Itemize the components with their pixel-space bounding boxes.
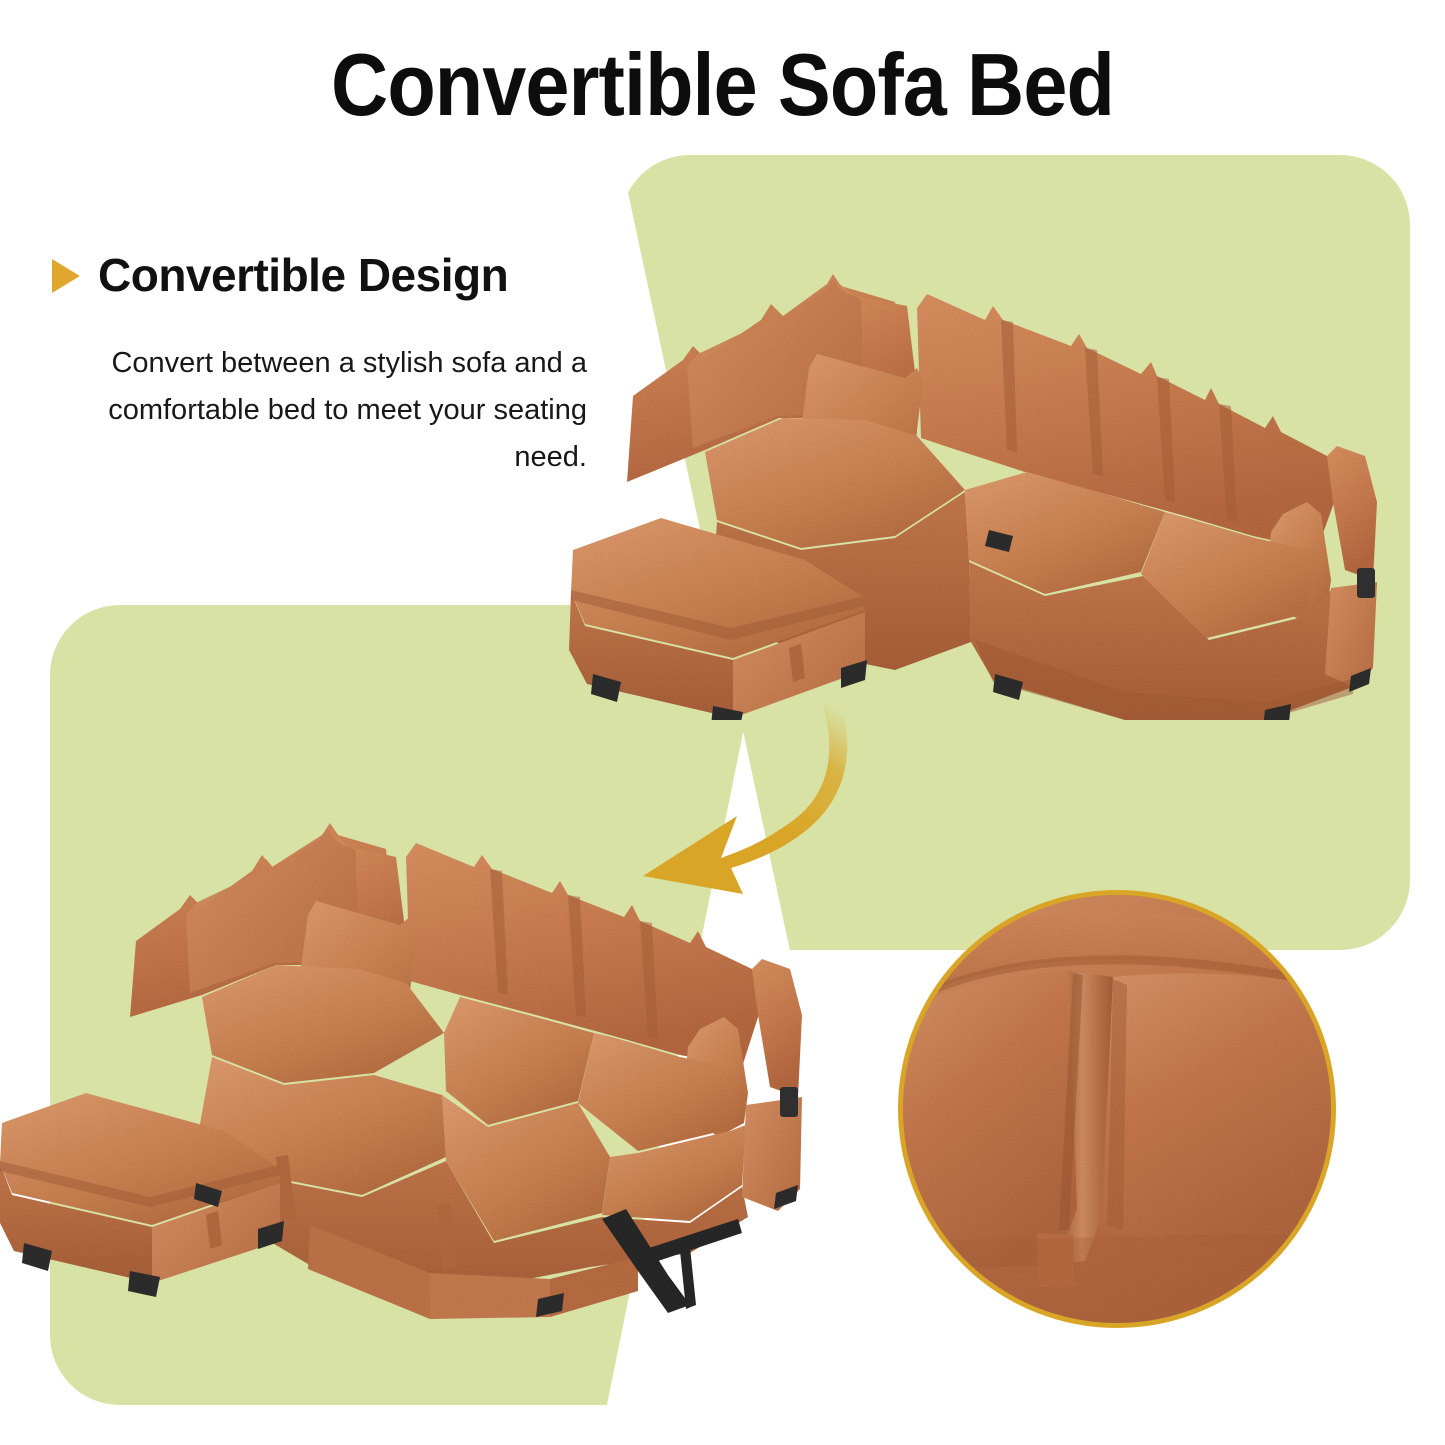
bed-skirt-fold-mid (430, 1273, 550, 1319)
feature-block: Convertible Design Convert between a sty… (52, 248, 592, 481)
sofa-mode-illustration (565, 250, 1445, 720)
fabric-closeup-image (898, 890, 1335, 1327)
page-title: Convertible Sofa Bed (72, 34, 1373, 136)
fabric-detail-inset (898, 890, 1336, 1328)
infographic-page: Convertible Sofa Bed Convertible Design … (0, 0, 1445, 1445)
feature-heading-row: Convertible Design (52, 248, 592, 302)
feature-description: Convert between a stylish sofa and a com… (52, 340, 587, 481)
armrest-back-right (1327, 446, 1377, 580)
armrest-back-right (752, 959, 802, 1097)
fabric-right-cushion (1103, 973, 1335, 1249)
feature-heading: Convertible Design (98, 248, 508, 302)
fabric-left-cushion (898, 971, 1079, 1269)
bed-mode-illustration (0, 805, 850, 1325)
recline-handle (1357, 568, 1375, 598)
recline-handle (780, 1087, 798, 1117)
triangle-right-icon (52, 259, 80, 293)
